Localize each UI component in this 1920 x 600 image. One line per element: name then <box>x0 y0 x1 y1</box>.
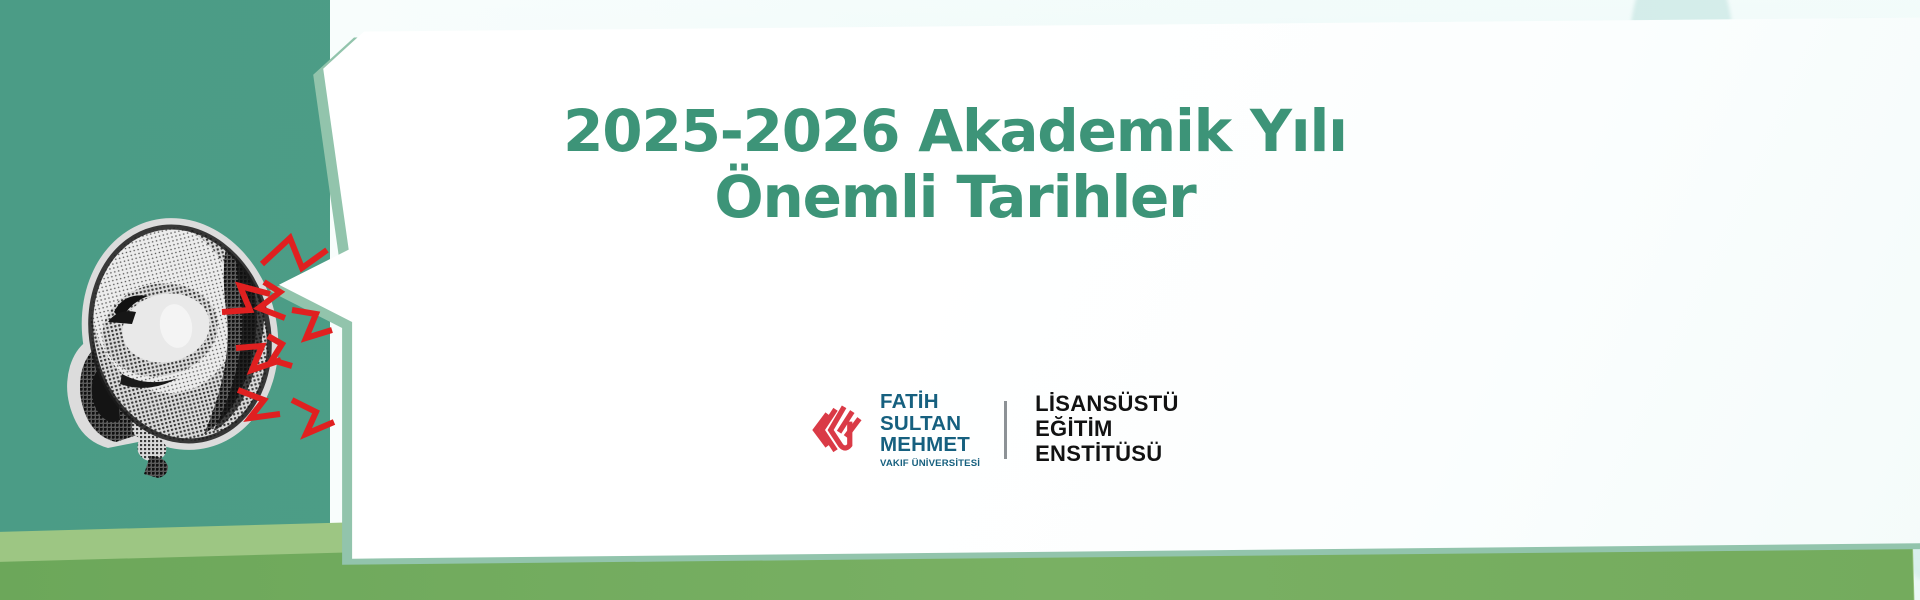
bubble-content: 2025-2026 Akademik Yılı Önemli Tarihler <box>330 0 1920 600</box>
logo-divider <box>1004 401 1007 459</box>
university-name-line-2: SULTAN <box>880 414 980 435</box>
institute-name-line-2: EĞİTİM <box>1035 418 1179 440</box>
academic-calendar-banner: 2025-2026 Akademik Yılı Önemli Tarihler <box>0 0 1920 600</box>
institute-name-line-1: LİSANSÜSTÜ <box>1035 393 1179 415</box>
university-name: FATİH SULTAN MEHMET VAKIF ÜNİVERSİTESİ <box>880 392 980 468</box>
institute-name: LİSANSÜSTÜ EĞİTİM ENSTİTÜSÜ <box>1035 393 1179 468</box>
university-name-line-3: MEHMET <box>880 435 980 456</box>
university-name-line-1: FATİH <box>880 392 980 413</box>
fsm-calligraphic-mark-icon <box>808 401 866 459</box>
logo-lockup: FATİH SULTAN MEHMET VAKIF ÜNİVERSİTESİ L… <box>808 392 1179 468</box>
title-line-1: 2025-2026 Akademik Yılı <box>330 98 1580 164</box>
institute-name-line-3: ENSTİTÜSÜ <box>1035 443 1179 465</box>
page-title: 2025-2026 Akademik Yılı Önemli Tarihler <box>330 98 1580 230</box>
halftone-megaphone-illustration <box>44 212 344 482</box>
title-line-2: Önemli Tarihler <box>330 164 1580 230</box>
university-subtitle: VAKIF ÜNİVERSİTESİ <box>880 459 980 469</box>
